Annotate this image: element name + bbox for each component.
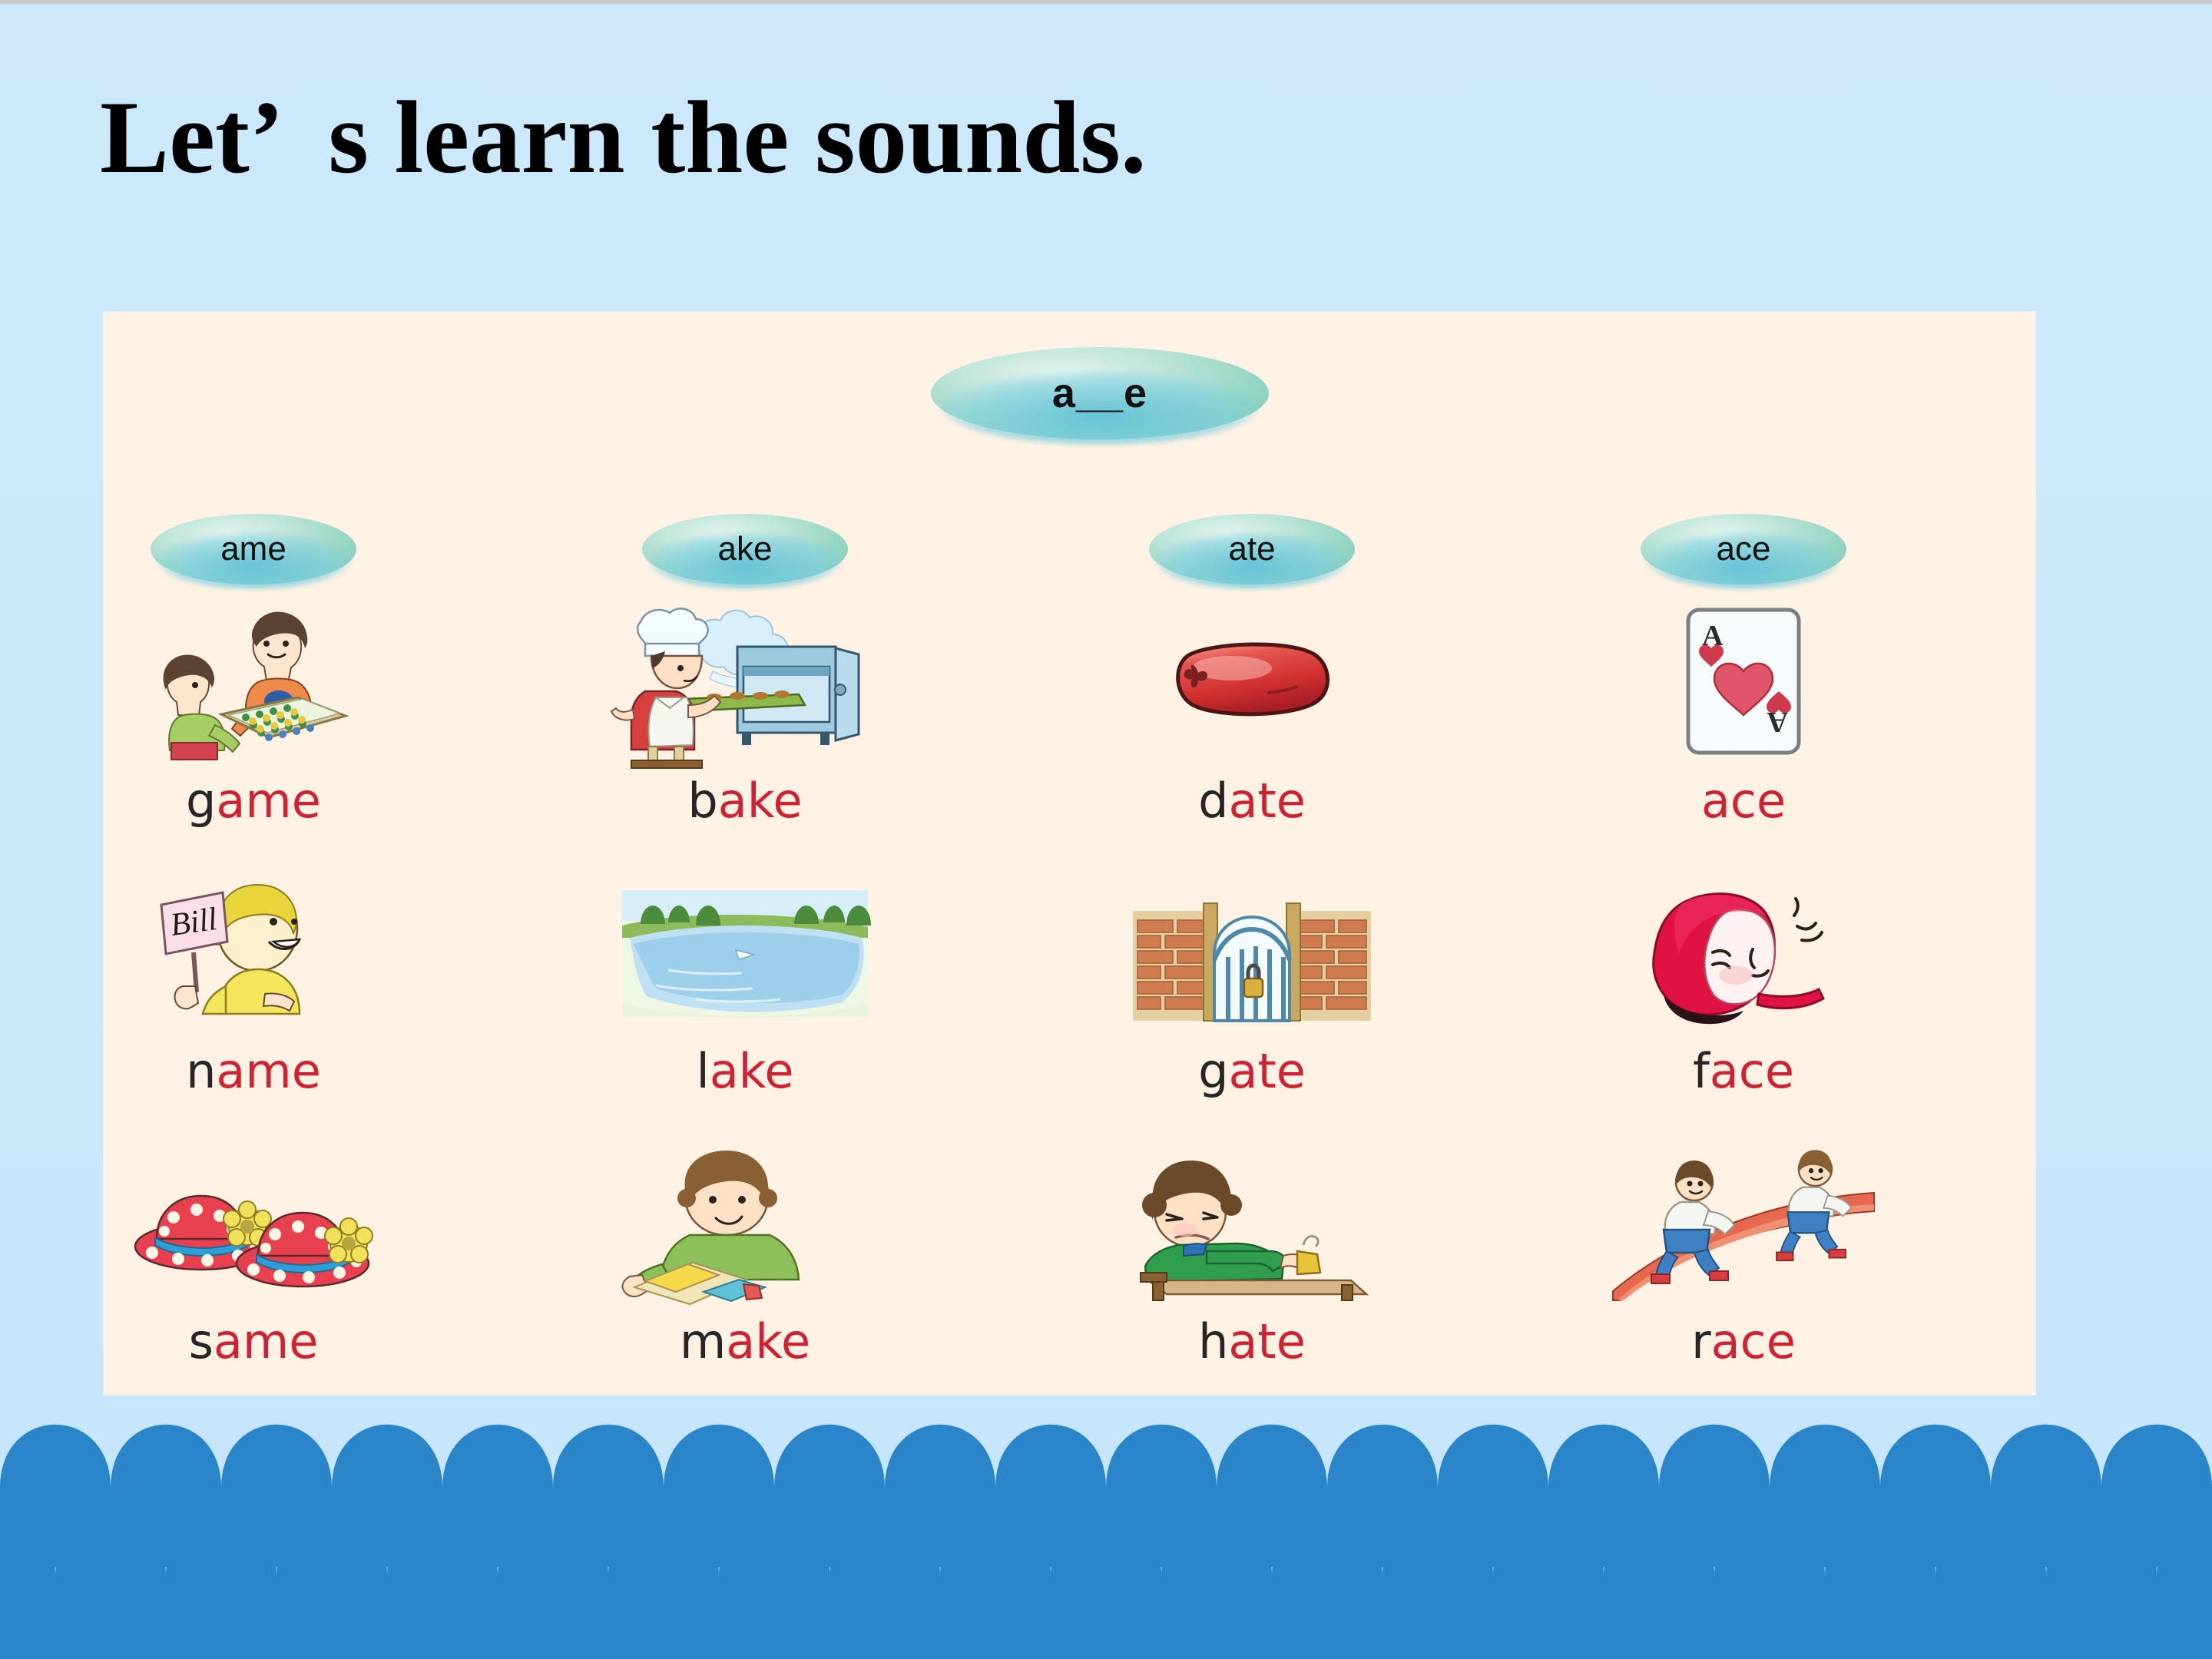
word-entry-name: Bill name bbox=[15, 862, 492, 1132]
word-entry-bake: bake bbox=[507, 591, 983, 862]
word-label-name: name bbox=[186, 1048, 321, 1095]
two-identical-polka-dot-hats-icon bbox=[100, 1132, 407, 1315]
word-entry-hate: hate bbox=[1014, 1132, 1490, 1402]
word-entry-lake: lake bbox=[507, 862, 983, 1132]
word-onset: r bbox=[1691, 1313, 1711, 1369]
word-entry-date: date bbox=[1014, 591, 1490, 862]
chef-baking-in-oven-icon bbox=[591, 591, 899, 774]
word-label-bake: bake bbox=[687, 777, 802, 825]
word-entry-gate: gate bbox=[1014, 862, 1490, 1132]
word-entry-same: same bbox=[15, 1132, 492, 1402]
word-label-race: race bbox=[1691, 1318, 1796, 1366]
arched-gate-in-brick-wall-icon bbox=[1098, 862, 1406, 1045]
red-date-fruit-icon bbox=[1098, 591, 1406, 774]
slide-canvas: Let’ s learn the sounds. a__e ame bbox=[0, 0, 2212, 1659]
sound-column-ate: ate bbox=[1014, 507, 1490, 1402]
wave-row-front bbox=[0, 1505, 2212, 1659]
word-onset: m bbox=[680, 1313, 726, 1369]
svg-text:Bill: Bill bbox=[168, 901, 219, 942]
word-rime: ate bbox=[1228, 1313, 1305, 1369]
sound-column-ace: ace A A ace bbox=[1505, 507, 1982, 1402]
word-rime: ake bbox=[718, 773, 803, 829]
pattern-pill-main-label: a__e bbox=[1052, 369, 1147, 417]
word-label-lake: lake bbox=[696, 1048, 793, 1095]
column-header-ate: ate bbox=[1014, 507, 1490, 591]
column-header-ake: ake bbox=[507, 507, 983, 591]
word-onset: b bbox=[687, 773, 717, 829]
page-title: Let’ s learn the sounds. bbox=[100, 86, 1147, 190]
word-label-face: face bbox=[1693, 1048, 1794, 1095]
pattern-pill-main: a__e bbox=[931, 347, 1269, 439]
column-header-ame: ame bbox=[15, 507, 492, 591]
word-onset: s bbox=[189, 1313, 214, 1369]
word-onset: g bbox=[1198, 1043, 1228, 1099]
face-in-red-hood-icon bbox=[1590, 862, 1897, 1045]
column-header-ace: ace bbox=[1505, 507, 1982, 591]
two-boys-playing-board-game-icon bbox=[100, 591, 407, 774]
two-children-racing-icon bbox=[1590, 1132, 1897, 1315]
word-rime: ake bbox=[726, 1313, 810, 1369]
word-label-same: same bbox=[189, 1318, 319, 1366]
word-rime: ame bbox=[216, 1043, 321, 1099]
ace-of-hearts-card-icon: A A bbox=[1590, 591, 1897, 774]
word-rime: ate bbox=[1228, 1043, 1305, 1099]
sound-column-ame: ame bbox=[15, 507, 492, 1402]
rime-pill-ake-label: ake bbox=[718, 530, 773, 568]
rime-pill-ake: ake bbox=[642, 514, 848, 584]
boy-disliking-food-at-table-icon bbox=[1098, 1132, 1406, 1315]
rime-pill-ace: ace bbox=[1641, 514, 1846, 584]
word-onset: f bbox=[1693, 1043, 1710, 1099]
word-entry-game: game bbox=[15, 591, 492, 862]
lake-with-trees-icon bbox=[591, 862, 899, 1045]
word-entry-make: make bbox=[507, 1132, 983, 1402]
word-rime: ate bbox=[1228, 773, 1305, 829]
word-onset: d bbox=[1198, 773, 1228, 829]
rime-pill-ate-label: ate bbox=[1228, 530, 1275, 568]
word-entry-ace: A A ace bbox=[1505, 591, 1982, 862]
word-onset: l bbox=[696, 1043, 709, 1099]
word-rime: ame bbox=[216, 773, 321, 829]
rime-pill-ame: ame bbox=[151, 514, 356, 584]
word-rime: ace bbox=[1710, 1043, 1794, 1099]
word-rime: ace bbox=[1701, 773, 1786, 829]
word-onset: g bbox=[186, 773, 216, 829]
word-label-ace: ace bbox=[1701, 777, 1786, 825]
word-rime: ake bbox=[710, 1043, 794, 1099]
boy-holding-bill-name-sign-icon: Bill bbox=[100, 862, 407, 1045]
word-entry-face: face bbox=[1505, 862, 1982, 1132]
word-entry-race: race bbox=[1505, 1132, 1982, 1402]
word-onset: h bbox=[1198, 1313, 1228, 1369]
word-label-hate: hate bbox=[1198, 1318, 1306, 1366]
word-onset: n bbox=[186, 1043, 216, 1099]
top-gray-strip bbox=[0, 0, 2212, 4]
word-label-date: date bbox=[1198, 777, 1306, 825]
word-rime: ace bbox=[1711, 1313, 1796, 1369]
word-rime: ame bbox=[214, 1313, 319, 1369]
sound-column-ake: ake bbox=[507, 507, 983, 1402]
rime-pill-ame-label: ame bbox=[220, 530, 286, 568]
child-making-paper-craft-icon bbox=[591, 1132, 899, 1315]
rime-pill-ate: ate bbox=[1149, 514, 1355, 584]
word-label-game: game bbox=[186, 777, 321, 825]
word-label-gate: gate bbox=[1198, 1048, 1306, 1095]
bottom-wave-decoration bbox=[0, 1421, 2212, 1659]
rime-pill-ace-label: ace bbox=[1717, 530, 1771, 568]
word-label-make: make bbox=[680, 1318, 810, 1366]
